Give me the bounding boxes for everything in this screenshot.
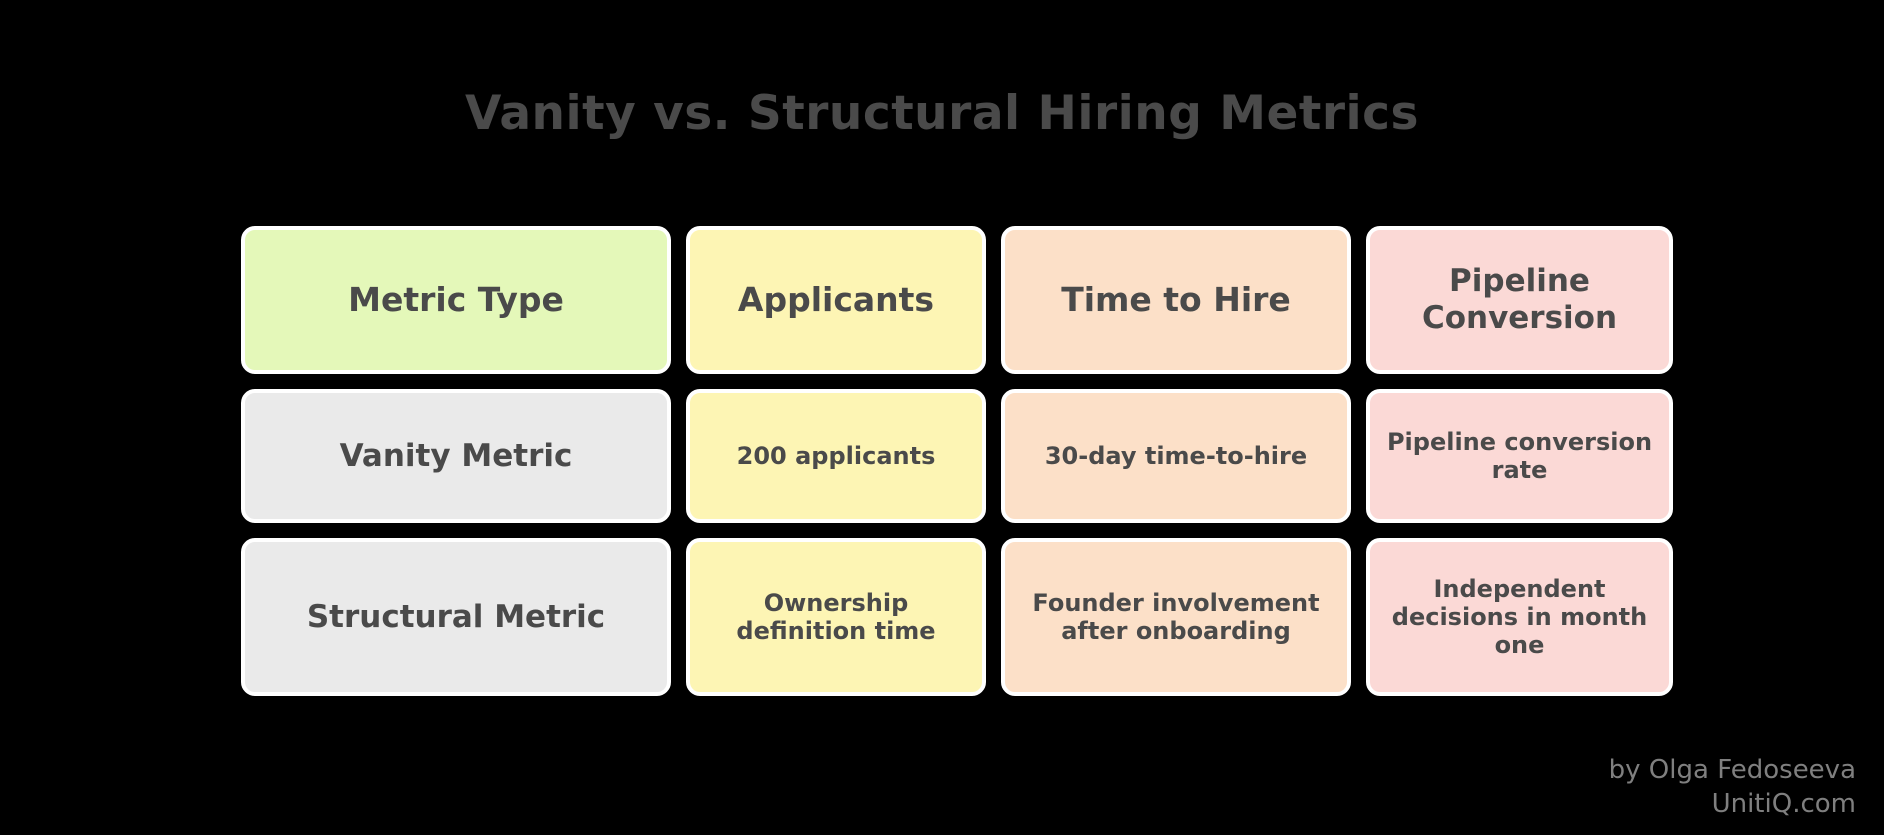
cell-structural-applicants: Ownership definition time (686, 538, 986, 696)
row-label-structural-metric: Structural Metric (241, 538, 671, 696)
comparison-table: Metric Type Applicants Time to Hire Pipe… (241, 226, 1684, 696)
cell-vanity-pipeline-conversion: Pipeline conversion rate (1366, 389, 1673, 523)
cell-vanity-applicants: 200 applicants (686, 389, 986, 523)
attribution: by Olga Fedoseeva UnitiQ.com (1609, 754, 1856, 821)
cell-vanity-time-to-hire: 30-day time-to-hire (1001, 389, 1351, 523)
attribution-author: by Olga Fedoseeva (1609, 754, 1856, 787)
attribution-site: UnitiQ.com (1609, 788, 1856, 821)
header-cell-metric-type: Metric Type (241, 226, 671, 374)
infographic-canvas: Vanity vs. Structural Hiring Metrics Met… (0, 0, 1884, 835)
header-cell-time-to-hire: Time to Hire (1001, 226, 1351, 374)
cell-structural-pipeline-conversion: Independent decisions in month one (1366, 538, 1673, 696)
cell-structural-time-to-hire: Founder involvement after onboarding (1001, 538, 1351, 696)
header-cell-pipeline-conversion: Pipeline Conversion (1366, 226, 1673, 374)
header-cell-applicants: Applicants (686, 226, 986, 374)
page-title: Vanity vs. Structural Hiring Metrics (0, 88, 1884, 140)
row-label-vanity-metric: Vanity Metric (241, 389, 671, 523)
